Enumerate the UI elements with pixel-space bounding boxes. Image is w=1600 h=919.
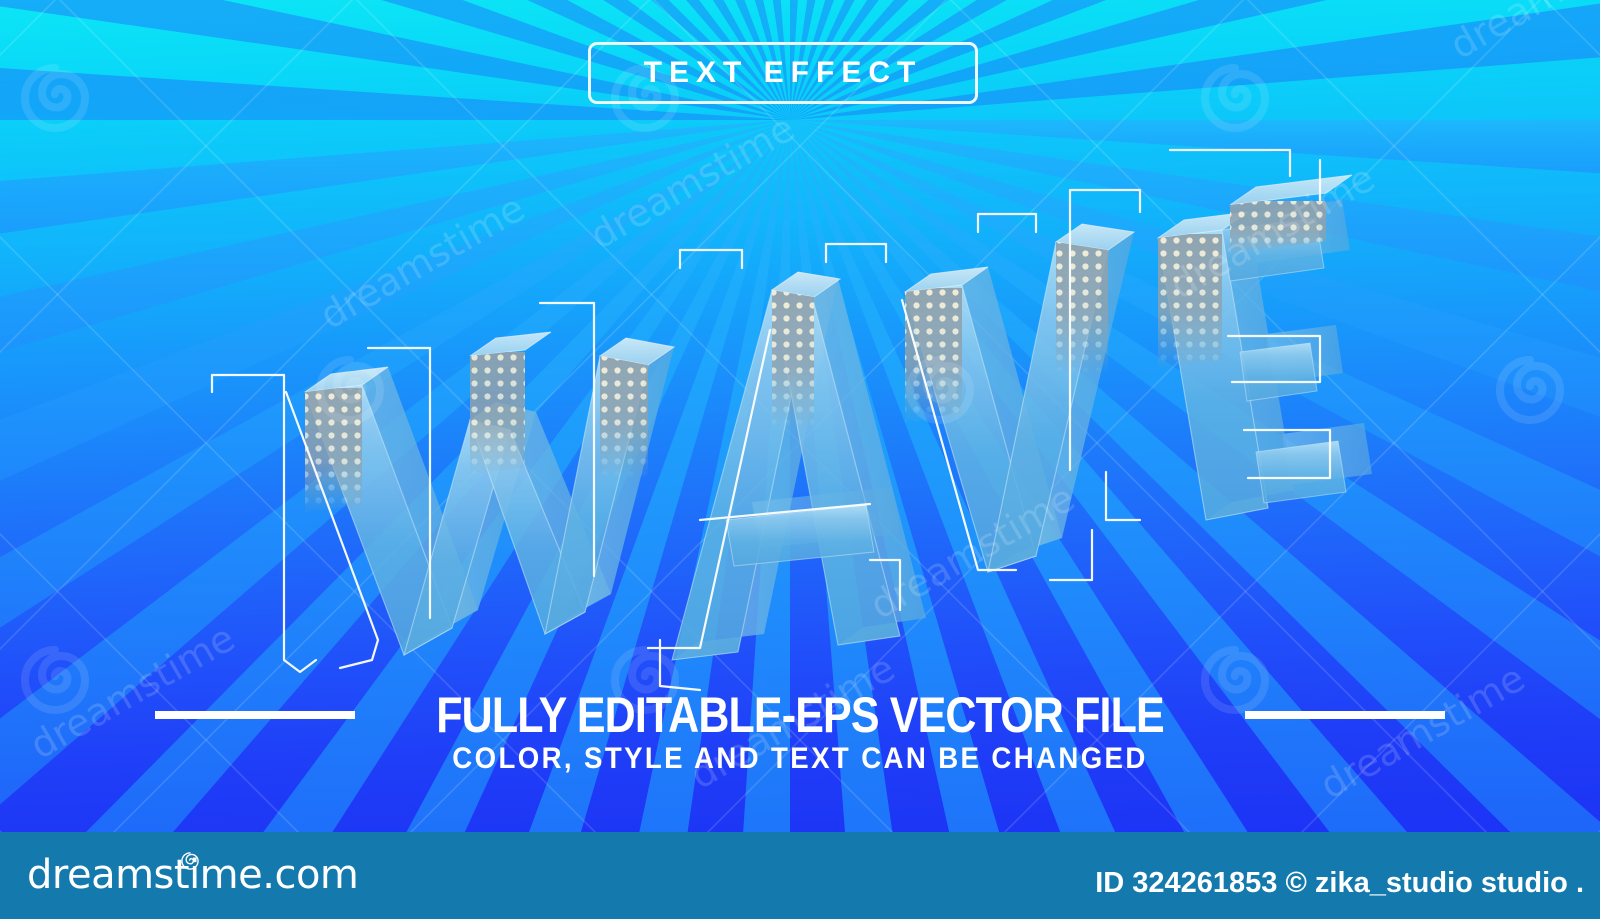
image-credit: ID 324261853 © zika_studio studio . [1095,867,1584,900]
screenshot-root: dreamstimedreamstimedreamstimedreamstime… [0,0,1600,919]
caption-rule-right [1245,711,1445,719]
spiral-icon [179,850,201,872]
caption-main: FULLY EDITABLE-EPS VECTOR FILE [436,686,1164,744]
caption-rule-left [155,711,355,719]
dreamstime-logo[interactable]: dreamstime.com [27,852,358,898]
text-effect-badge: TEXT EFFECT [588,42,978,104]
footer-bar: dreamstime.com ID 324261853 © zika_studi… [0,832,1600,919]
caption-sub: COLOR, STYLE AND TEXT CAN BE CHANGED [64,742,1536,776]
text-effect-badge-label: TEXT EFFECT [644,56,923,90]
artwork-canvas: dreamstimedreamstimedreamstimedreamstime… [0,0,1600,832]
caption-row: FULLY EDITABLE-EPS VECTOR FILE [0,686,1600,744]
